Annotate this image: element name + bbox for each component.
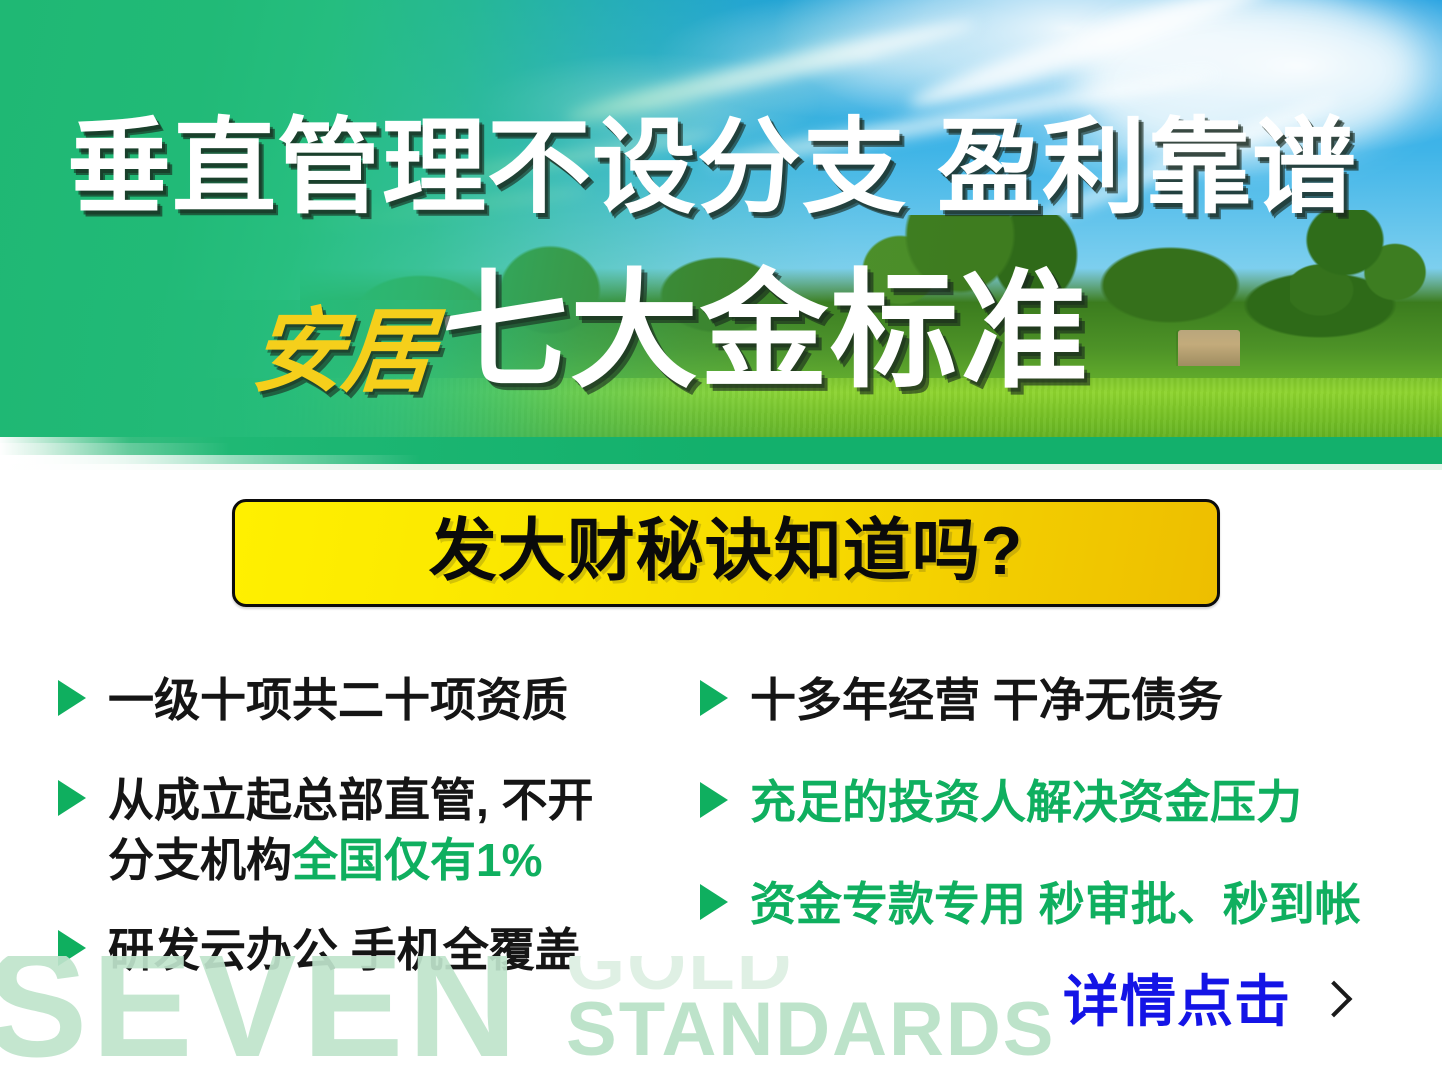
highlight-banner-text: 发大财秘诀知道吗? <box>429 517 1024 589</box>
triangle-right-icon <box>58 780 86 816</box>
highlight-banner[interactable]: 发大财秘诀知道吗? <box>232 499 1220 607</box>
bullet-text: 资金专款专用 秒审批、秒到帐 <box>750 874 1361 934</box>
bullet-text: 研发云办公 手机全覆盖 <box>108 920 581 980</box>
hero-banner: 垂直管理不设分支 盈利靠谱 安居七大金标准 <box>0 0 1442 470</box>
promo-poster: 垂直管理不设分支 盈利靠谱 安居七大金标准 发大财秘诀知道吗? 一级十项共二十项… <box>0 0 1442 1066</box>
feature-bullets: 一级十项共二十项资质 从成立起总部直管, 不开分支机构全国仅有1% 研发云办公 … <box>0 662 1442 992</box>
triangle-right-icon <box>700 884 728 920</box>
hero-headline-primary: 垂直管理不设分支 盈利靠谱 <box>0 116 1442 220</box>
bullet-text: 一级十项共二十项资质 <box>108 670 568 730</box>
chevron-right-icon <box>1317 979 1343 1025</box>
hero-band-fade <box>0 455 420 470</box>
triangle-right-icon <box>58 680 86 716</box>
details-cta-button[interactable]: 详情点击 <box>1063 974 1343 1030</box>
hero-headline-secondary: 安居七大金标准 <box>0 268 1442 398</box>
triangle-right-icon <box>700 782 728 818</box>
triangle-right-icon <box>700 680 728 716</box>
list-item: 十多年经营 干净无债务 <box>700 670 1223 730</box>
hero-headline-seven-gold-standards: 七大金标准 <box>440 268 1090 396</box>
watermark-standards: STANDARDS <box>566 992 1055 1066</box>
details-cta-label: 详情点击 <box>1063 974 1291 1030</box>
bullet-text: 十多年经营 干净无债务 <box>750 670 1223 730</box>
list-item: 充足的投资人解决资金压力 <box>700 772 1302 832</box>
bullet-text-highlight: 全国仅有1% <box>292 834 542 886</box>
list-item: 研发云办公 手机全覆盖 <box>58 920 581 980</box>
list-item: 从成立起总部直管, 不开分支机构全国仅有1% <box>58 770 628 890</box>
triangle-right-icon <box>58 930 86 966</box>
brand-name-anju: 安居 <box>249 306 435 398</box>
list-item: 资金专款专用 秒审批、秒到帐 <box>700 874 1361 934</box>
bullet-text: 从成立起总部直管, 不开分支机构全国仅有1% <box>108 770 628 890</box>
bullet-text: 充足的投资人解决资金压力 <box>750 772 1302 832</box>
list-item: 一级十项共二十项资质 <box>58 670 568 730</box>
